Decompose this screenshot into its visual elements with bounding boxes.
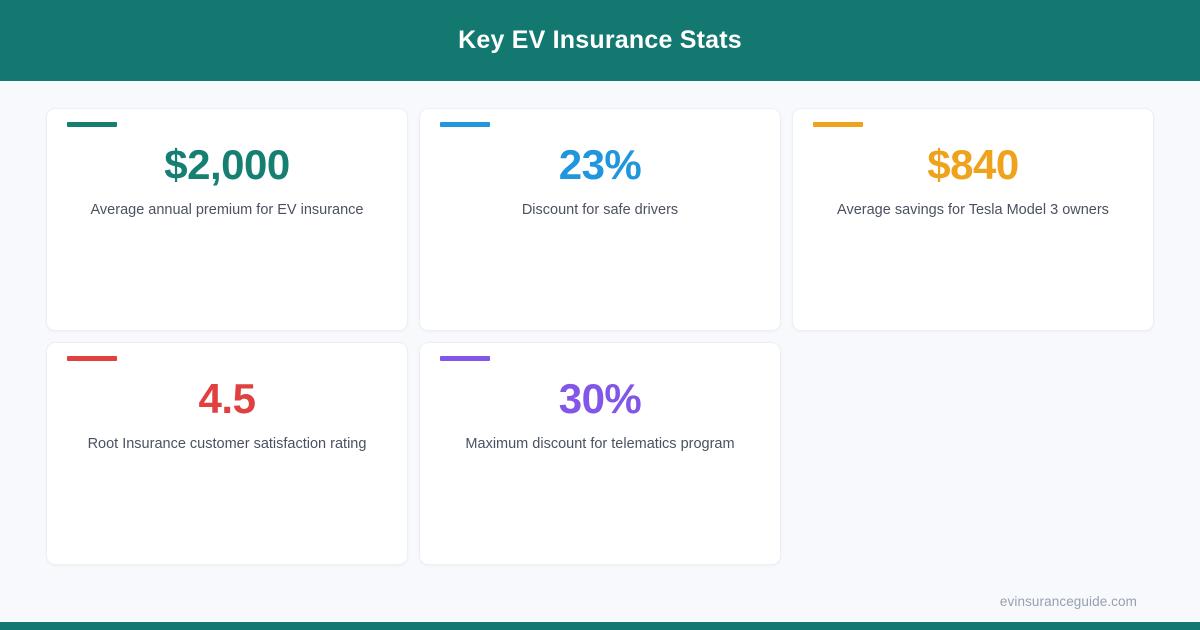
page-header: Key EV Insurance Stats: [0, 0, 1200, 81]
stat-value: 30%: [559, 377, 642, 421]
infographic-page: Key EV Insurance Stats $2,000 Average an…: [0, 0, 1200, 630]
accent-bar-icon: [440, 122, 490, 127]
stat-label: Root Insurance customer satisfaction rat…: [88, 434, 367, 455]
source-attribution: evinsuranceguide.com: [1000, 594, 1137, 609]
accent-bar-icon: [67, 356, 117, 361]
accent-bar-icon: [67, 122, 117, 127]
stat-value: $2,000: [164, 143, 289, 187]
page-footer: evinsuranceguide.com: [0, 581, 1200, 622]
stat-label: Maximum discount for telematics program: [465, 434, 734, 455]
stat-card: 30% Maximum discount for telematics prog…: [419, 342, 781, 565]
stats-content: $2,000 Average annual premium for EV ins…: [0, 81, 1200, 581]
stat-label: Average annual premium for EV insurance: [91, 200, 364, 221]
bottom-accent-bar: [0, 622, 1200, 630]
accent-bar-icon: [813, 122, 863, 127]
stat-card: 23% Discount for safe drivers: [419, 108, 781, 331]
stat-label: Discount for safe drivers: [522, 200, 678, 221]
accent-bar-icon: [440, 356, 490, 361]
stat-value: 4.5: [199, 377, 256, 421]
stat-card: $2,000 Average annual premium for EV ins…: [46, 108, 408, 331]
stat-card-grid: $2,000 Average annual premium for EV ins…: [46, 108, 1154, 565]
stat-value: 23%: [559, 143, 642, 187]
stat-value: $840: [927, 143, 1018, 187]
stat-card: 4.5 Root Insurance customer satisfaction…: [46, 342, 408, 565]
page-title: Key EV Insurance Stats: [458, 26, 742, 55]
stat-label: Average savings for Tesla Model 3 owners: [837, 200, 1109, 221]
stat-card: $840 Average savings for Tesla Model 3 o…: [792, 108, 1154, 331]
